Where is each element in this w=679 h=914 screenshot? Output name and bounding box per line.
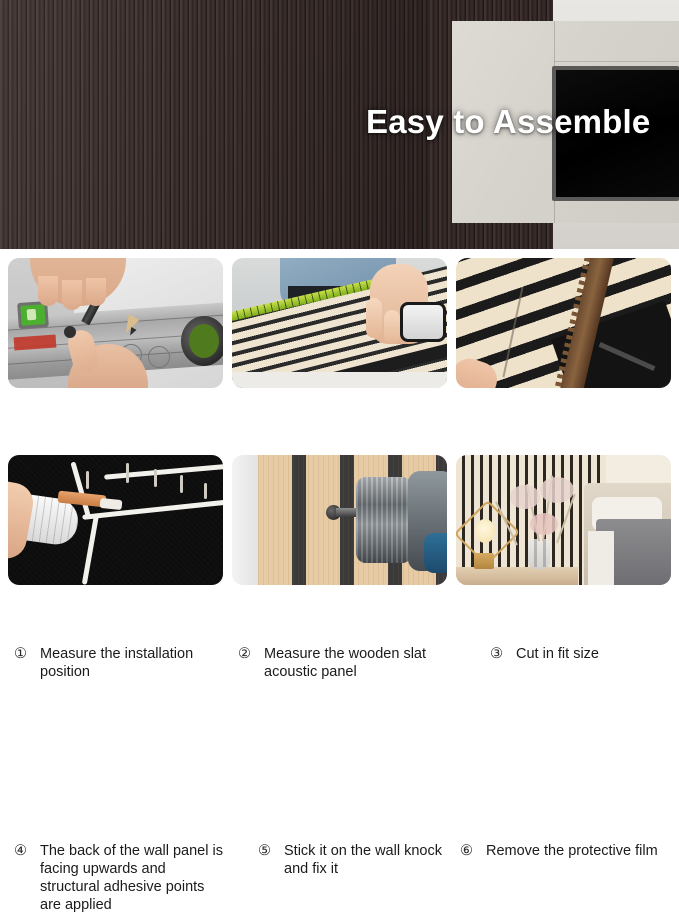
- adhesive-nozzle-tip: [100, 498, 123, 510]
- finger: [384, 310, 400, 344]
- photo-measure-installation-position: [8, 258, 223, 388]
- dried-flower-cluster: [530, 513, 558, 535]
- drill-grip: [424, 533, 447, 573]
- lamp-base: [474, 553, 494, 569]
- step-number-4: ④: [14, 842, 27, 860]
- drill-chuck-ribs: [356, 477, 412, 563]
- product-instruction-infographic: Easy to Assemble: [0, 0, 679, 664]
- step-caption-text-3: Cut in fit size: [516, 645, 679, 663]
- step-photo-3: [456, 258, 671, 388]
- step-caption-1: ① Measure the installation position: [14, 645, 224, 681]
- panel-seam-horizontal: [554, 61, 679, 62]
- step-caption-3: ③ Cut in fit size: [490, 645, 679, 663]
- step-number-1: ①: [14, 645, 27, 663]
- step-photo-2: [232, 258, 447, 388]
- level-end-vial: [189, 324, 219, 358]
- lamp-bulb: [475, 519, 495, 543]
- hero-banner: Easy to Assemble: [0, 0, 679, 249]
- adhesive-point: [204, 483, 207, 499]
- step-number-2: ②: [238, 645, 251, 663]
- photo-stick-and-fix-on-wall: [232, 455, 447, 585]
- photo-finished-room-remove-film: [456, 455, 671, 585]
- step-number-6: ⑥: [460, 842, 473, 860]
- adhesive-point: [86, 471, 89, 489]
- finger: [366, 298, 382, 338]
- adhesive-point: [154, 469, 157, 487]
- photo-apply-structural-adhesive: [8, 455, 223, 585]
- step-photo-1: [8, 258, 223, 388]
- adhesive-point: [126, 463, 129, 483]
- floor-strip: [232, 372, 447, 388]
- step-caption-text-2: Measure the wooden slat acoustic panel: [264, 645, 448, 681]
- step-caption-4: ④ The back of the wall panel is facing u…: [14, 842, 228, 914]
- step-caption-text-6: Remove the protective film: [486, 842, 675, 860]
- side-table: [456, 567, 578, 585]
- finger: [62, 280, 82, 310]
- step-number-3: ③: [490, 645, 503, 663]
- dried-flower-cluster: [540, 477, 574, 503]
- steps-grid: ① Measure the installation position ② Me…: [0, 249, 679, 664]
- step-caption-text-4: The back of the wall panel is facing upw…: [40, 842, 228, 914]
- finger: [86, 278, 106, 306]
- photo-measure-wooden-slat-panel: [232, 258, 447, 388]
- step-caption-5: ⑤ Stick it on the wall knock and fix it: [258, 842, 458, 878]
- step-photo-4: [8, 455, 223, 585]
- dried-flower-cluster: [510, 485, 540, 509]
- photo-cut-in-fit-size: [456, 258, 671, 388]
- hero-title: Easy to Assemble: [366, 103, 650, 141]
- wall-edge: [232, 455, 258, 585]
- step-caption-6: ⑥ Remove the protective film: [460, 842, 675, 860]
- step-caption-text-1: Measure the installation position: [40, 645, 224, 681]
- step-number-5: ⑤: [258, 842, 271, 860]
- step-photo-5: [232, 455, 447, 585]
- level-vial-bubble: [27, 309, 37, 321]
- finger: [38, 276, 58, 306]
- adhesive-point: [180, 475, 183, 493]
- step-caption-text-5: Stick it on the wall knock and fix it: [284, 842, 458, 878]
- step-caption-2: ② Measure the wooden slat acoustic panel: [238, 645, 448, 681]
- glass-vase: [528, 539, 550, 569]
- bed-sheet: [588, 531, 614, 585]
- tape-measure-reel: [400, 302, 446, 342]
- step-photo-6: [456, 455, 671, 585]
- screw-head: [64, 326, 76, 338]
